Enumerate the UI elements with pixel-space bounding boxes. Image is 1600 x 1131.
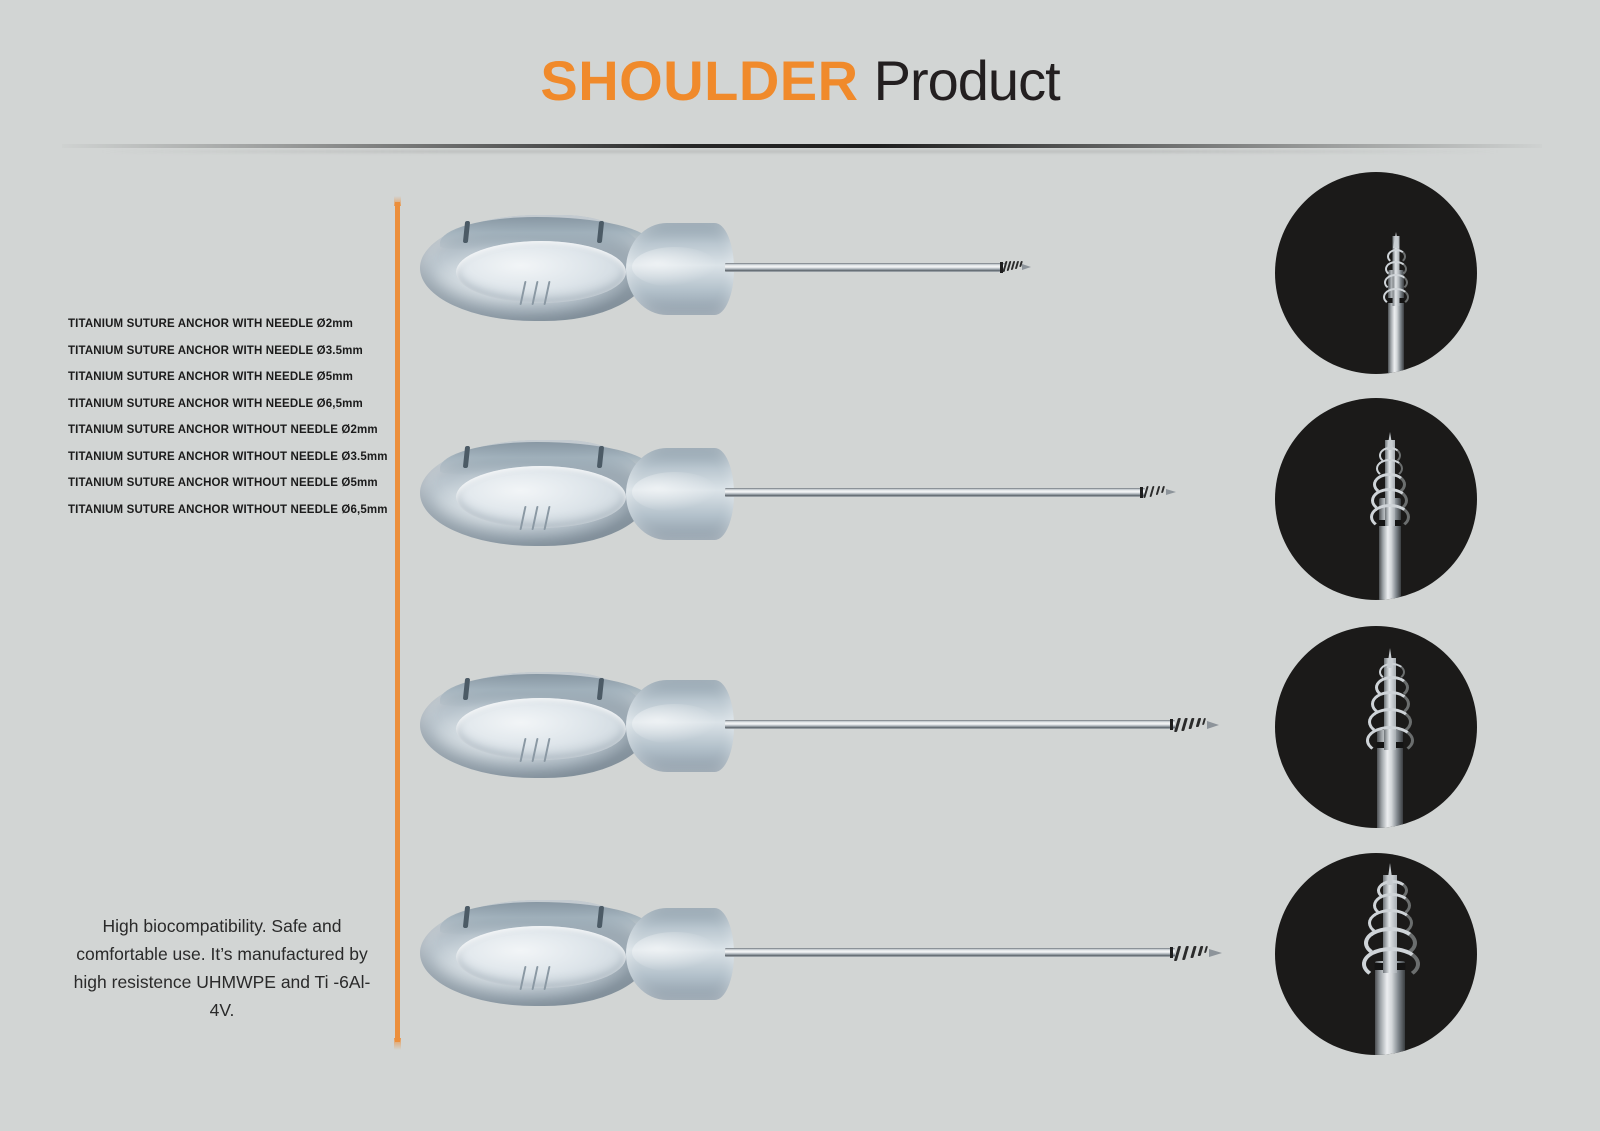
instrument-handle (420, 215, 732, 321)
list-item: TITANIUM SUTURE ANCHOR WITHOUT NEEDLE Ø3… (68, 451, 388, 464)
tip-threads (1004, 261, 1022, 274)
instrument-shaft (725, 488, 1145, 497)
list-item: TITANIUM SUTURE ANCHOR WITHOUT NEEDLE Ø2… (68, 424, 388, 437)
list-item: TITANIUM SUTURE ANCHOR WITHOUT NEEDLE Ø6… (68, 504, 388, 517)
instrument-shaft (725, 263, 1005, 272)
tip-collar (1170, 719, 1173, 730)
header-divider (62, 144, 1542, 148)
handle-grooves (520, 281, 564, 307)
tip-cone (1207, 721, 1219, 729)
tip-cone (1022, 264, 1031, 270)
list-item: TITANIUM SUTURE ANCHOR WITHOUT NEEDLE Ø5… (68, 477, 388, 490)
header-divider-shadow (100, 150, 1500, 153)
handle-neck (626, 680, 734, 772)
anchor-tip-closeup-4 (1275, 853, 1477, 1055)
handle-grooves (520, 966, 564, 992)
screw-point (1387, 432, 1393, 450)
list-item: TITANIUM SUTURE ANCHOR WITH NEEDLE Ø5mm (68, 371, 388, 384)
screw-point (1387, 648, 1393, 668)
instrument-handle (420, 900, 732, 1006)
screw-point (1393, 232, 1399, 248)
tip-threads (1145, 486, 1165, 499)
spec-list: TITANIUM SUTURE ANCHOR WITH NEEDLE Ø2mm … (68, 318, 388, 530)
closeup-screw (1383, 230, 1409, 306)
tip-threads (1176, 946, 1208, 959)
list-item: TITANIUM SUTURE ANCHOR WITH NEEDLE Ø2mm (68, 318, 388, 331)
title-rest: Product (874, 49, 1060, 112)
title-highlight: SHOULDER (540, 49, 858, 112)
tip-threads (1176, 718, 1206, 731)
handle-grooves (520, 506, 564, 532)
closeup-screw (1366, 652, 1414, 750)
instrument-handle (420, 440, 732, 546)
handle-neck (626, 448, 734, 540)
anchor-tip-closeup-3 (1275, 626, 1477, 828)
closeup-screw (1370, 434, 1410, 526)
handle-neck (626, 908, 734, 1000)
list-item: TITANIUM SUTURE ANCHOR WITH NEEDLE Ø6,5m… (68, 398, 388, 411)
handle-grooves (520, 738, 564, 764)
tip-cone (1166, 489, 1176, 495)
accent-vertical-rule (395, 202, 400, 1042)
page-title: SHOULDER Product (0, 48, 1600, 114)
handle-neck (626, 223, 734, 315)
anchor-tip-closeup-1 (1275, 172, 1477, 374)
instrument-shaft (725, 948, 1175, 957)
tip-collar (1170, 947, 1173, 958)
instrument-handle (420, 672, 732, 778)
instrument-shaft (725, 720, 1175, 729)
closeup-screw (1362, 869, 1418, 973)
tip-cone (1209, 949, 1222, 957)
anchor-tip-closeup-2 (1275, 398, 1477, 600)
screw-point (1387, 863, 1393, 885)
screw-flight (1387, 249, 1406, 264)
list-item: TITANIUM SUTURE ANCHOR WITH NEEDLE Ø3.5m… (68, 345, 388, 358)
footer-note: High biocompatibility. Safe and comforta… (62, 912, 382, 1024)
